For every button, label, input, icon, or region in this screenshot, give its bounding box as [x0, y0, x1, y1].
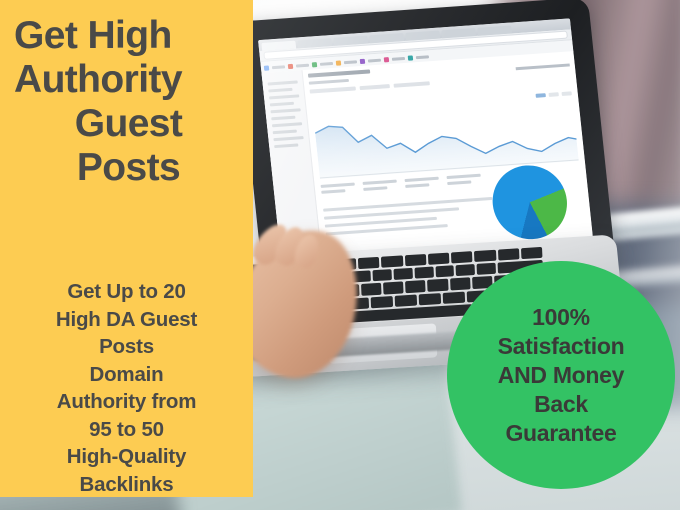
metric-cell [321, 183, 356, 197]
dashboard-title [308, 69, 370, 77]
bookmark-icon [360, 58, 366, 63]
control-chip [310, 86, 356, 93]
legend-swatch [562, 91, 572, 96]
bookmark-label [296, 63, 309, 67]
key [428, 279, 449, 291]
headline-line-4: Posts [14, 146, 243, 190]
laptop-screen [258, 18, 593, 258]
feature-line-3: Posts [12, 333, 241, 361]
sidebar-item [269, 94, 299, 99]
key [405, 280, 426, 292]
headline-line-1: Get High [14, 14, 243, 58]
headline-line-3: Guest [14, 102, 243, 146]
guarantee-badge: 100% Satisfaction AND Money Back Guarant… [447, 261, 675, 489]
key [405, 254, 427, 266]
control-chip [394, 81, 430, 87]
feature-line-2: High DA Guest [12, 306, 241, 334]
bookmark-icon [264, 65, 270, 70]
key [373, 269, 392, 281]
badge-line-4: Back [498, 390, 625, 419]
bookmark-label [344, 60, 357, 64]
yellow-panel: Get High Authority Guest Posts Get Up to… [0, 0, 253, 497]
dashboard-main [302, 51, 592, 256]
bookmark-label [392, 56, 405, 60]
page-title: Get High Authority Guest Posts [0, 0, 253, 190]
key [371, 296, 394, 309]
sidebar-item [273, 136, 303, 141]
bookmark-icon [408, 55, 414, 60]
key [474, 250, 496, 262]
sidebar-item [270, 108, 300, 113]
key [435, 265, 454, 277]
key [381, 255, 403, 267]
date-range-label [516, 63, 570, 70]
bookmark-label [368, 58, 381, 62]
key [456, 264, 475, 276]
metric-cell [363, 180, 398, 194]
key [358, 257, 380, 269]
dashboard-data-table [323, 197, 495, 241]
bookmark-icon [312, 62, 318, 67]
key [393, 268, 412, 280]
key [521, 247, 543, 259]
sidebar-item [274, 143, 298, 148]
metric-cell [405, 177, 440, 191]
control-chip [360, 84, 390, 90]
feature-list: Get Up to 20 High DA Guest Posts Domain … [12, 278, 241, 498]
key [383, 282, 404, 294]
legend-swatch [549, 92, 559, 97]
sidebar-item [268, 88, 292, 93]
sidebar-item [268, 80, 298, 85]
analytics-dashboard [261, 51, 592, 259]
bookmark-label [320, 61, 333, 65]
bookmark-label [272, 65, 285, 69]
badge-line-2: Satisfaction [498, 332, 625, 361]
key [443, 291, 466, 304]
sidebar-item [272, 122, 302, 127]
key [451, 251, 473, 263]
bookmark-icon [288, 63, 294, 68]
bookmark-label [416, 55, 429, 59]
feature-line-1: Get Up to 20 [12, 278, 241, 306]
badge-line-1: 100% [498, 303, 625, 332]
bookmark-icon [336, 60, 342, 65]
key [419, 293, 442, 306]
sidebar-item [273, 130, 297, 135]
badge-line-5: Guarantee [498, 419, 625, 448]
key [414, 267, 433, 279]
legend-swatch [536, 93, 546, 98]
key [498, 248, 520, 260]
badge-line-3: AND Money [498, 361, 625, 390]
headline-line-2: Authority [14, 58, 243, 102]
feature-line-6: 95 to 50 [12, 416, 241, 444]
key [428, 253, 450, 265]
feature-line-7: High-Quality [12, 443, 241, 471]
promo-poster: Get High Authority Guest Posts Get Up to… [0, 0, 680, 510]
feature-line-8: Backlinks [12, 471, 241, 499]
feature-line-5: Authority from [12, 388, 241, 416]
key [450, 278, 471, 290]
feature-line-4: Domain [12, 361, 241, 389]
key [361, 283, 382, 295]
sidebar-item [271, 116, 295, 121]
metric-cell [447, 174, 482, 188]
table-row [323, 197, 492, 212]
key [395, 294, 418, 307]
dashboard-subtitle [309, 79, 349, 85]
guarantee-badge-text: 100% Satisfaction AND Money Back Guarant… [490, 303, 633, 448]
key [477, 263, 496, 275]
sidebar-item [270, 102, 294, 107]
bookmark-icon [384, 57, 390, 62]
